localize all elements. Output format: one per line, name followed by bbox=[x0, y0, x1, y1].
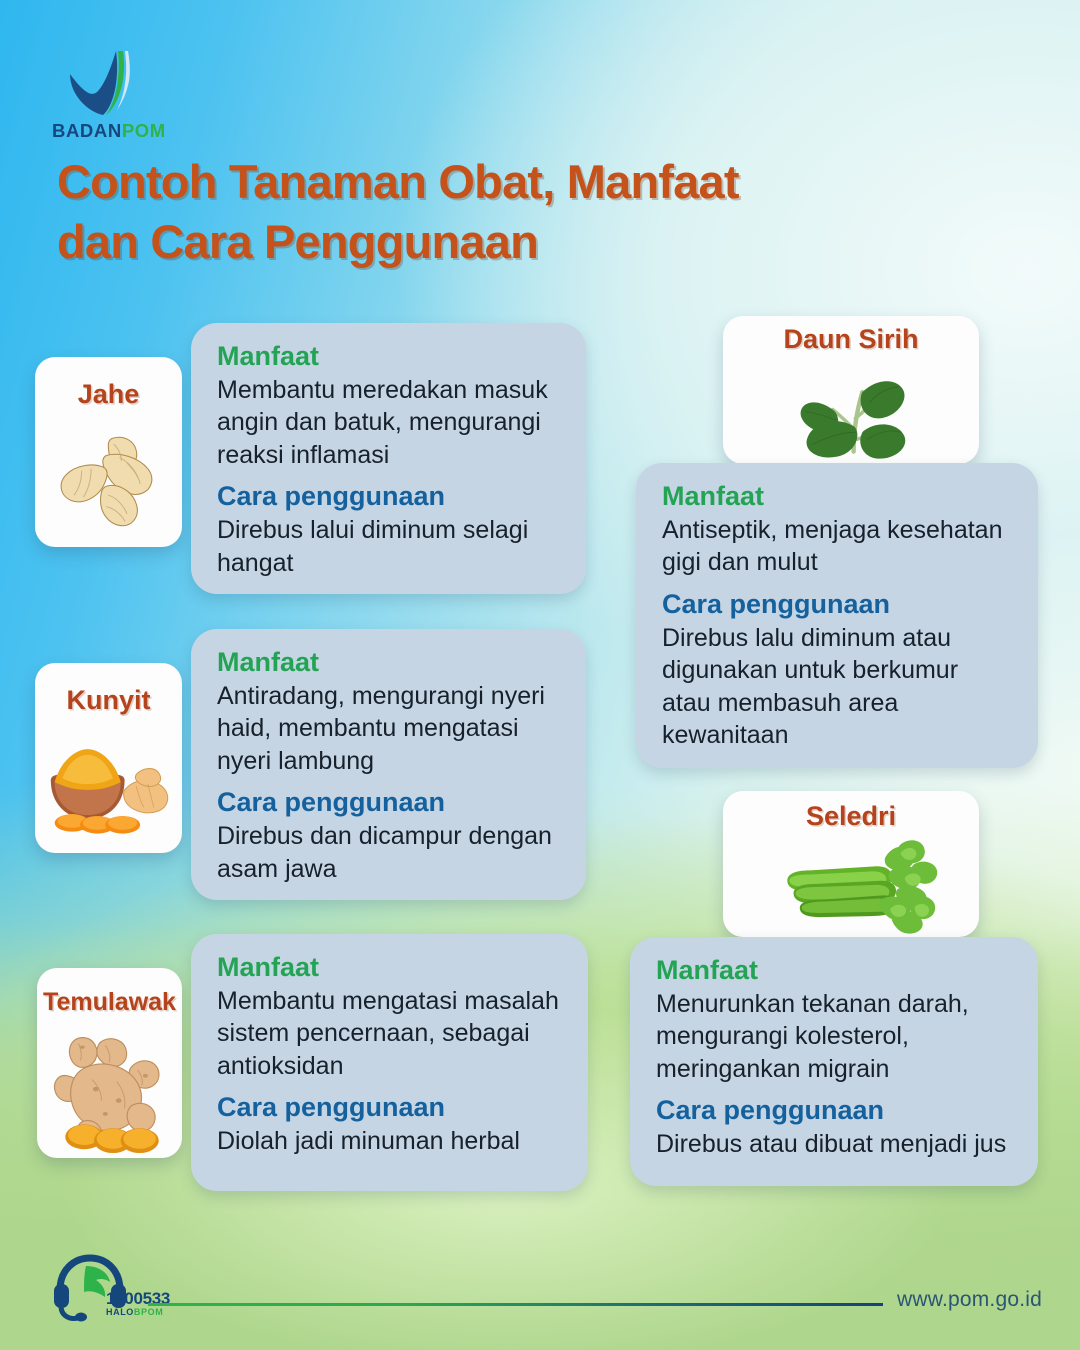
label-cara-penggunaan: Cara penggunaan bbox=[656, 1095, 1012, 1127]
label-manfaat: Manfaat bbox=[217, 341, 560, 373]
badanpom-logo: BADANPOM bbox=[52, 48, 232, 142]
footer-divider bbox=[148, 1303, 883, 1306]
celery-illustration bbox=[759, 835, 955, 939]
svg-text:HALOBPOM: HALOBPOM bbox=[106, 1307, 163, 1317]
cara-text-jahe: Direbus lalui diminum selagi hangat bbox=[217, 514, 560, 579]
plant-name-jahe: Jahe bbox=[78, 379, 140, 410]
manfaat-text-temulawak: Membantu mengatasi masalah sistem pencer… bbox=[217, 985, 562, 1083]
page-title: Contoh Tanaman Obat, Manfaat dan Cara Pe… bbox=[57, 152, 957, 272]
label-manfaat: Manfaat bbox=[217, 647, 560, 679]
label-manfaat: Manfaat bbox=[662, 481, 1012, 513]
label-manfaat: Manfaat bbox=[217, 952, 562, 984]
plant-name-daun-sirih: Daun Sirih bbox=[783, 324, 918, 355]
badanpom-logo-text: BADANPOM bbox=[52, 120, 232, 142]
label-cara-penggunaan: Cara penggunaan bbox=[217, 1092, 562, 1124]
manfaat-text-jahe: Membantu meredakan masuk angin dan batuk… bbox=[217, 374, 560, 472]
temulawak-rhizome-illustration bbox=[49, 1030, 175, 1154]
badanpom-swoosh-icon bbox=[62, 48, 148, 118]
halobpom-hotline-logo[interactable]: 1500533 HALOBPOM bbox=[50, 1252, 170, 1324]
plant-card-jahe[interactable]: Jahe bbox=[35, 357, 182, 547]
plant-name-seledri: Seledri bbox=[806, 801, 896, 832]
plant-info-panel-seledri: Manfaat Menurunkan tekanan darah, mengur… bbox=[630, 937, 1038, 1186]
logo-text-badan: BADAN bbox=[52, 120, 122, 141]
headset-halobpom-icon: 1500533 HALOBPOM bbox=[50, 1252, 170, 1324]
turmeric-bowl-illustration bbox=[43, 737, 179, 835]
betel-leaf-illustration bbox=[767, 366, 935, 462]
cara-text-kunyit: Direbus dan dicampur dengan asam jawa bbox=[217, 820, 560, 885]
plant-card-kunyit[interactable]: Kunyit bbox=[35, 663, 182, 853]
plant-card-seledri[interactable]: Seledri bbox=[723, 791, 979, 937]
label-cara-penggunaan: Cara penggunaan bbox=[662, 589, 1012, 621]
page-title-line2: dan Cara Penggunaan bbox=[57, 212, 957, 272]
plant-info-panel-daun-sirih: Manfaat Antiseptik, menjaga kesehatan gi… bbox=[636, 463, 1038, 768]
plant-info-panel-kunyit: Manfaat Antiradang, mengurangi nyeri hai… bbox=[191, 629, 586, 900]
cara-text-daun-sirih: Direbus lalu diminum atau digunakan untu… bbox=[662, 622, 1012, 752]
manfaat-text-seledri: Menurunkan tekanan darah, mengurangi kol… bbox=[656, 988, 1012, 1086]
plant-name-temulawak: Temulawak bbox=[43, 988, 176, 1017]
page-title-line1: Contoh Tanaman Obat, Manfaat bbox=[57, 152, 957, 212]
manfaat-text-kunyit: Antiradang, mengurangi nyeri haid, memba… bbox=[217, 680, 560, 778]
label-manfaat: Manfaat bbox=[656, 955, 1012, 987]
ginger-root-illustration bbox=[51, 429, 169, 533]
footer-website-link[interactable]: www.pom.go.id bbox=[897, 1288, 1042, 1312]
label-cara-penggunaan: Cara penggunaan bbox=[217, 481, 560, 513]
label-cara-penggunaan: Cara penggunaan bbox=[217, 787, 560, 819]
logo-text-pom: POM bbox=[122, 120, 166, 141]
plant-card-daun-sirih[interactable]: Daun Sirih bbox=[723, 316, 979, 464]
plant-info-panel-jahe: Manfaat Membantu meredakan masuk angin d… bbox=[191, 323, 586, 594]
plant-name-kunyit: Kunyit bbox=[67, 685, 151, 716]
cara-text-temulawak: Diolah jadi minuman herbal bbox=[217, 1125, 562, 1158]
cara-text-seledri: Direbus atau dibuat menjadi jus bbox=[656, 1128, 1012, 1161]
manfaat-text-daun-sirih: Antiseptik, menjaga kesehatan gigi dan m… bbox=[662, 514, 1012, 579]
plant-info-panel-temulawak: Manfaat Membantu mengatasi masalah siste… bbox=[191, 934, 588, 1191]
plant-card-temulawak[interactable]: Temulawak bbox=[37, 968, 182, 1158]
